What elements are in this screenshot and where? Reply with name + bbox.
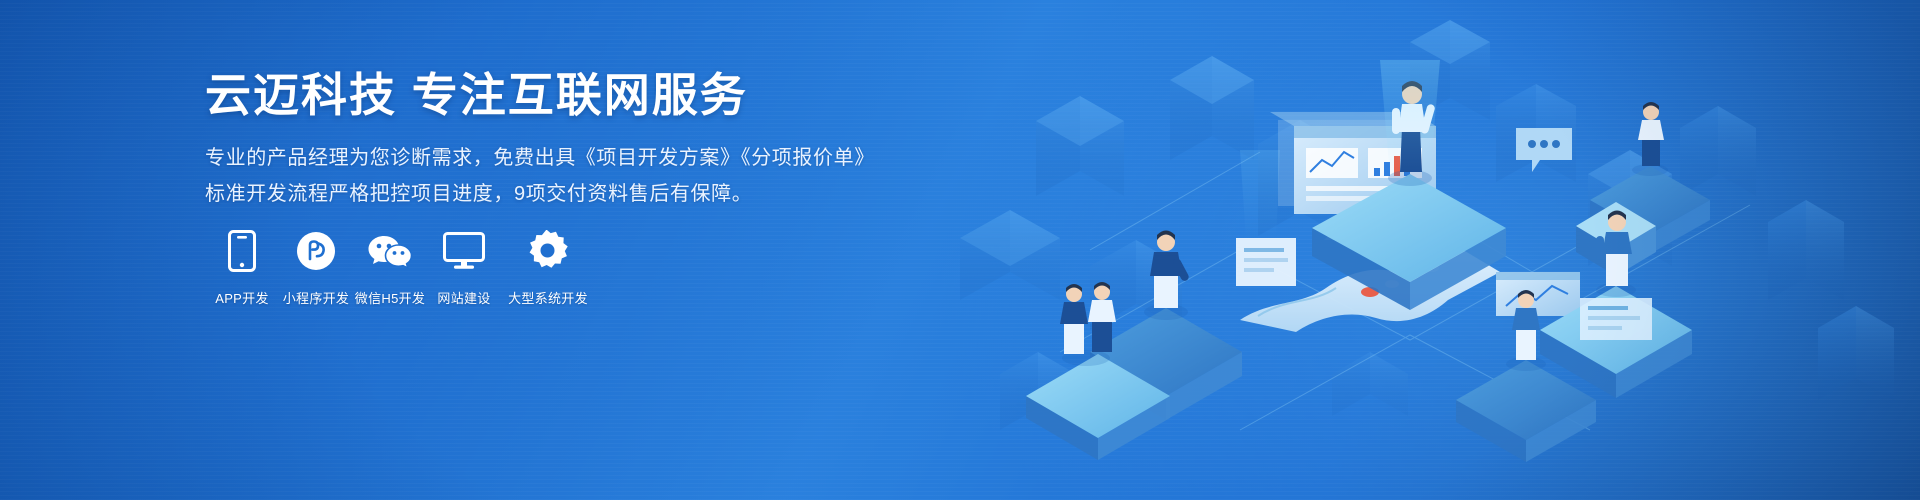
mini-program-icon [296,228,336,274]
tablet-screen [1496,272,1580,316]
wechat-icon [367,228,413,274]
page-title: 云迈科技 专注互联网服务 [205,68,965,122]
gear-icon [527,228,569,274]
person-seated-left [1144,231,1190,321]
hero-copy: 云迈科技 专注互联网服务 专业的产品经理为您诊断需求，免费出具《项目开发方案》《… [205,68,965,212]
service-icon-row: APP开发 小程序开发 [205,228,595,307]
service-label-system: 大型系统开发 [508,288,588,307]
service-label-wechat: 微信H5开发 [355,288,425,307]
service-item-system[interactable]: 大型系统开发 [501,228,595,307]
monitor-icon [443,228,485,274]
floating-ui-card [1580,298,1652,340]
subtitle-line-2: 标准开发流程严格把控项目进度，9项交付资料售后有保障。 [205,177,965,213]
hero-banner: 云迈科技 专注互联网服务 专业的产品经理为您诊断需求，免费出具《项目开发方案》《… [0,0,1920,500]
mobile-phone-icon [228,228,256,274]
service-item-wechat[interactable]: 微信H5开发 [353,228,427,307]
document-card [1236,238,1296,286]
service-item-app[interactable]: APP开发 [205,228,279,307]
isometric-illustration [940,0,1920,500]
service-label-miniprogram: 小程序开发 [283,288,350,307]
subtitle-line-1: 专业的产品经理为您诊断需求，免费出具《项目开发方案》《分项报价单》 [205,141,965,177]
service-item-miniprogram[interactable]: 小程序开发 [279,228,353,307]
podium-lower-right [1456,360,1596,462]
service-label-app: APP开发 [215,288,269,307]
service-label-website: 网站建设 [437,288,490,307]
hero-subtitle: 专业的产品经理为您诊断需求，免费出具《项目开发方案》《分项报价单》 标准开发流程… [205,141,965,212]
service-item-website[interactable]: 网站建设 [427,228,501,307]
